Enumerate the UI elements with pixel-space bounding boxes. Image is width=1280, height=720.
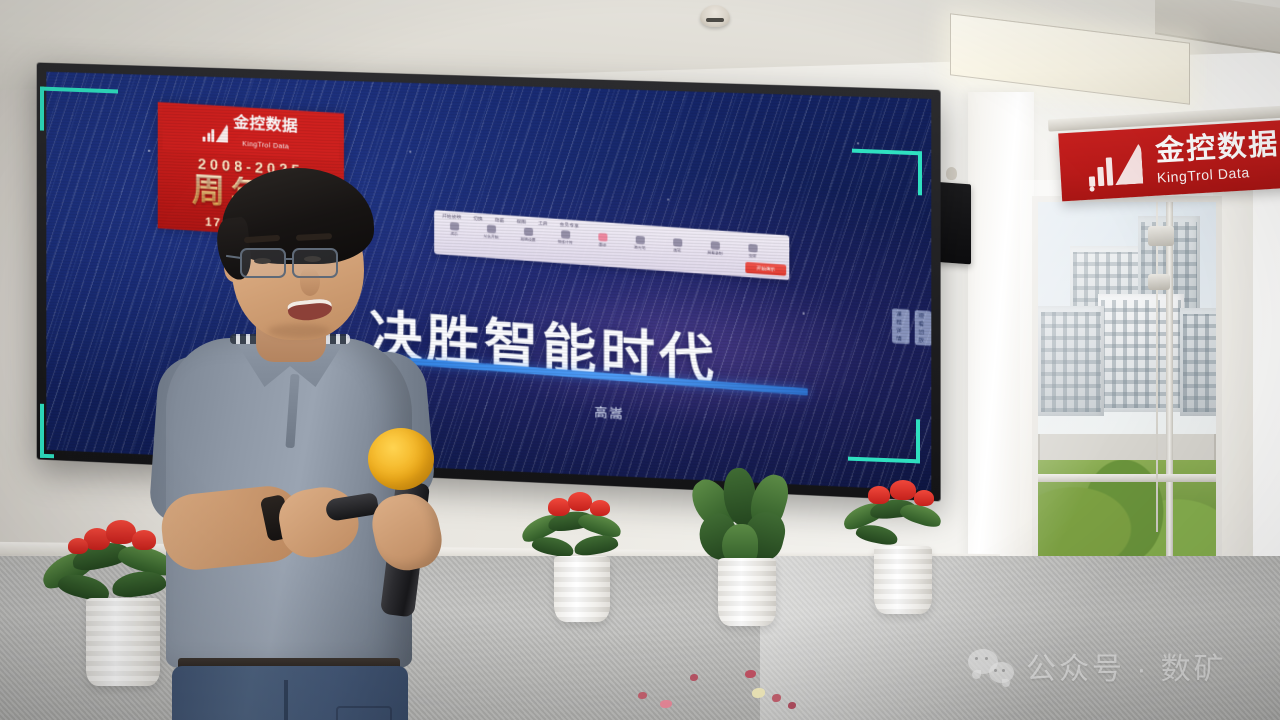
flower-petal	[772, 694, 781, 702]
flower-petal	[752, 688, 765, 698]
flower-petal	[788, 702, 796, 709]
jeans-pocket	[336, 706, 392, 720]
blind-clip-lower[interactable]	[1148, 274, 1170, 290]
flower-petal	[690, 674, 698, 681]
eyeglasses-lens-left	[240, 248, 286, 278]
microphone-head	[368, 428, 434, 490]
conference-room-photo: 金控数据 KingTrol Data 金控数据 KingTrol Data	[0, 0, 1280, 720]
wall-fixture	[946, 167, 957, 180]
hanging-brand-banner: 金控数据 KingTrol Data	[1058, 119, 1280, 202]
blind-clip-top[interactable]	[1148, 226, 1174, 246]
plant-pot	[718, 558, 776, 626]
flower-petal	[660, 700, 672, 708]
frame-corner-bottom-right	[848, 417, 920, 464]
flower-petal	[745, 670, 756, 678]
eyeglasses-bridge	[286, 258, 294, 260]
wechat-icon	[968, 649, 1014, 683]
blind-pull-cable[interactable]	[1156, 202, 1158, 532]
building-right	[1180, 308, 1222, 416]
floor-sunlight	[760, 556, 1280, 720]
building-left	[1038, 306, 1104, 416]
nose	[300, 268, 320, 296]
wechat-watermark: 公众号 · 数矿	[968, 644, 1227, 688]
jeans-seam	[284, 680, 288, 720]
window-mullion-horizontal	[1038, 474, 1216, 482]
chin-shadow	[268, 324, 330, 338]
plant-pot	[874, 546, 932, 614]
plant-pot	[554, 556, 610, 622]
presenter-person	[148, 160, 478, 720]
banner-title-cn: 金控数据	[1155, 130, 1280, 166]
frame-corner-bottom-left	[40, 404, 54, 459]
watermark-text: 公众号 · 数矿	[1026, 644, 1227, 688]
frame-corner-top-right	[852, 149, 922, 196]
wall-column	[968, 92, 1034, 632]
kingtrol-logo-icon	[1087, 139, 1146, 188]
frame-corner-top-left	[40, 87, 118, 134]
flower-petal	[638, 692, 647, 699]
smoke-detector-icon	[700, 5, 730, 27]
